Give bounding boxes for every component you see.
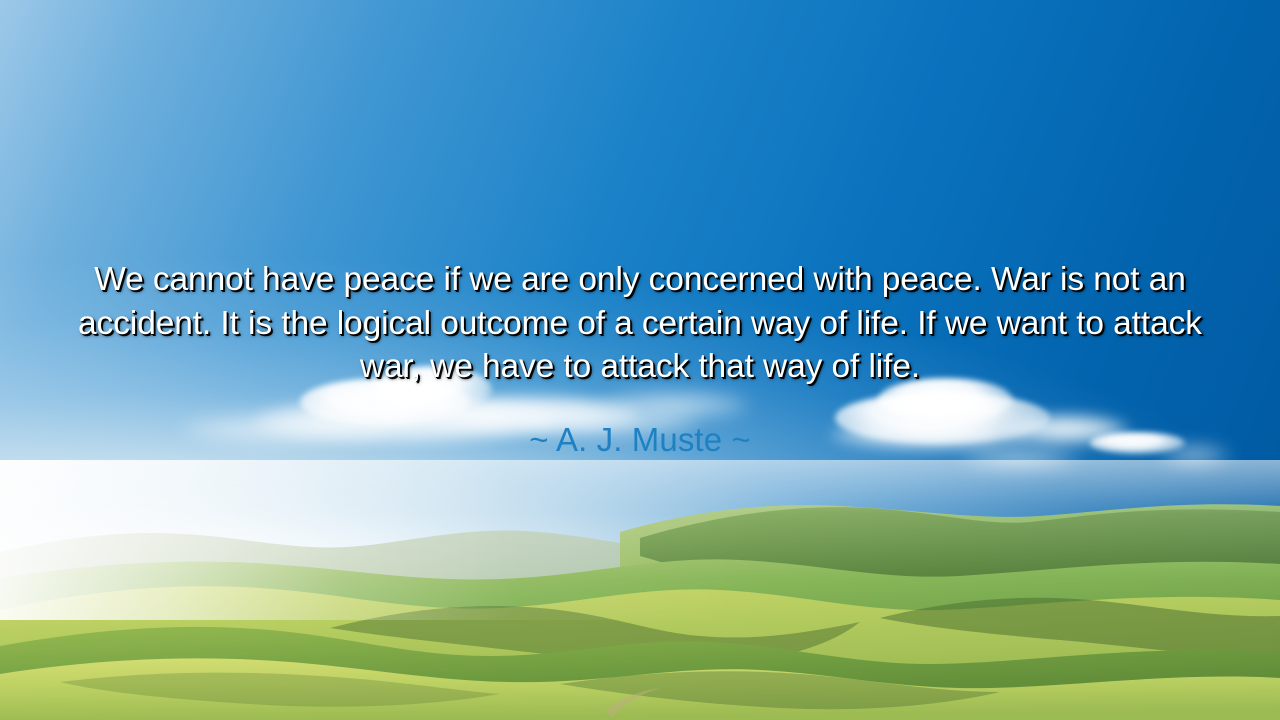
quote-text: We cannot have peace if we are only conc… bbox=[46, 258, 1234, 389]
quote-block: We cannot have peace if we are only conc… bbox=[0, 258, 1280, 459]
quote-author: ~ A. J. Muste ~ bbox=[46, 421, 1234, 459]
hills-landscape bbox=[0, 460, 1280, 720]
landscape-haze-top bbox=[0, 460, 1280, 580]
wallpaper-quote-screen: We cannot have peace if we are only conc… bbox=[0, 0, 1280, 720]
